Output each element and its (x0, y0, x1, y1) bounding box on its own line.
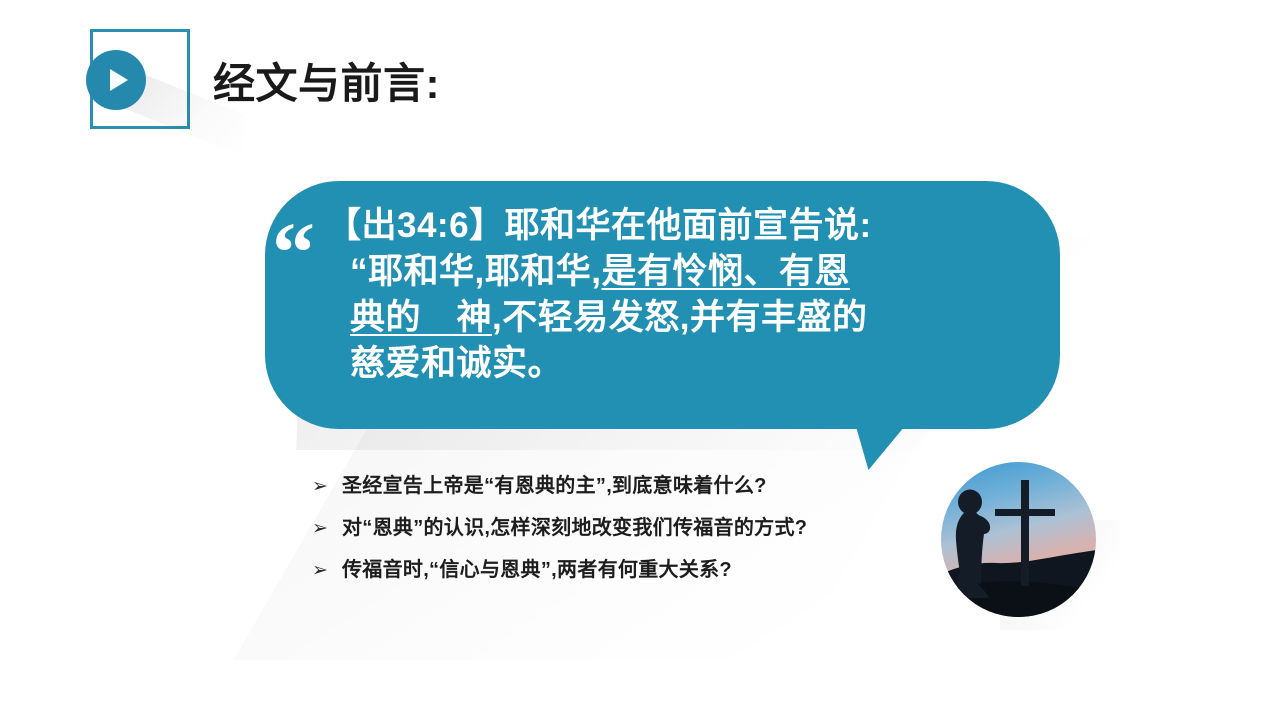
list-item[interactable]: ➢ 传福音时,“信心与恩典”,两者有何重大关系? (312, 556, 912, 584)
quote-line-1: 【出34:6】耶和华在他面前宣告说: (326, 203, 1048, 249)
arrow-bullet-icon: ➢ (312, 472, 342, 500)
praying-person-with-cross-photo (941, 462, 1096, 617)
quote-line-3-plain: ,不轻易发怒,并有丰盛的 (492, 298, 867, 337)
question-list: ➢ 圣经宣告上帝是“有恩典的主”,到底意味着什么? ➢ 对“恩典”的认识,怎样深… (312, 472, 912, 598)
quote-line-3-underlined: 典的 神 (350, 298, 492, 337)
quote-line-4: 慈爱和诚实。 (326, 341, 1048, 387)
quote-line-2: “耶和华,耶和华,是有怜悯、有恩 (326, 249, 1048, 295)
quote-bubble-text: 【出34:6】耶和华在他面前宣告说: “耶和华,耶和华,是有怜悯、有恩 典的 神… (326, 203, 1048, 387)
list-item-label: 对“恩典”的认识,怎样深刻地改变我们传福音的方式? (342, 514, 912, 542)
play-button-icon[interactable] (86, 50, 146, 110)
arrow-bullet-icon: ➢ (312, 514, 342, 542)
quote-mark-icon: “ (272, 209, 313, 295)
slide-canvas: 经文与前言: “ 【出34:6】耶和华在他面前宣告说: “耶和华,耶和华,是有怜… (0, 0, 1280, 720)
play-triangle-icon (110, 69, 128, 91)
quote-line-2-underlined: 是有怜悯、有恩 (601, 252, 850, 291)
list-item-label: 传福音时,“信心与恩典”,两者有何重大关系? (342, 556, 912, 584)
list-item[interactable]: ➢ 圣经宣告上帝是“有恩典的主”,到底意味着什么? (312, 472, 912, 500)
list-item[interactable]: ➢ 对“恩典”的认识,怎样深刻地改变我们传福音的方式? (312, 514, 912, 542)
header-icon-group (90, 29, 190, 129)
quote-line-2-plain: “耶和华,耶和华, (350, 252, 601, 291)
quote-line-3: 典的 神,不轻易发怒,并有丰盛的 (326, 295, 1048, 341)
arrow-bullet-icon: ➢ (312, 556, 342, 584)
list-item-label: 圣经宣告上帝是“有恩典的主”,到底意味着什么? (342, 472, 912, 500)
page-title: 经文与前言: (213, 50, 440, 111)
